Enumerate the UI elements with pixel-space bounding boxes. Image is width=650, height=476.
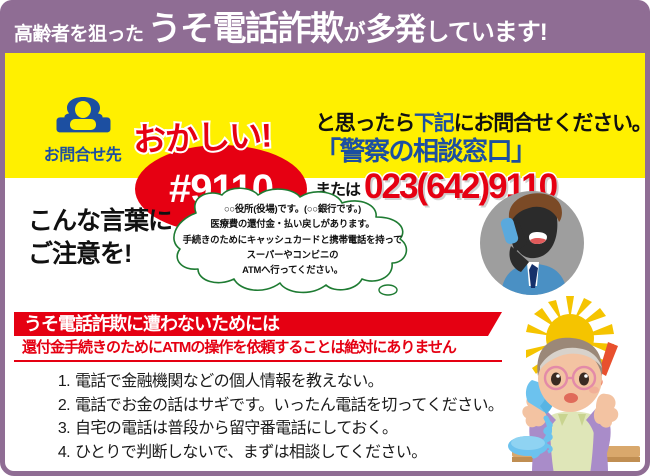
tip-number: 2.	[48, 394, 70, 418]
caution-heading: こんな言葉に ご注意を!	[28, 205, 172, 271]
prevention-banner-title: うそ電話詐欺に遭わないためには	[24, 312, 279, 336]
header-particle-text: が	[344, 15, 365, 47]
bubble-line-5: ATMへ行ってください。	[160, 262, 425, 277]
tip-number: 1.	[48, 370, 70, 394]
header-emphasis2-text: 多発	[366, 4, 425, 49]
caution-heading-line1: こんな言葉に	[28, 205, 172, 238]
prevention-subbanner-text: 還付金手続きのためにATMの操作を依頼することは絶対にありません	[22, 336, 456, 360]
bubble-line-2: 医療費の還付金・払い戻しがあります。	[160, 216, 425, 231]
ask-line: と思ったら下記にお問合せください。	[315, 113, 650, 135]
scam-awareness-poster: 高齢者を狙った うそ電話詐欺 が 多発 しています! お問合せ先 #9110 お…	[0, 0, 650, 476]
okashii-callout: おかしい!	[132, 109, 272, 162]
elderly-woman-on-phone-illustration	[498, 294, 648, 474]
ask-line-suffix: にお問合せください。	[454, 112, 650, 135]
contact-label: お問合せ先	[30, 141, 135, 165]
scam-script-bubble: ○○役所(役場)です。(○○銀行です。) 医療費の還付金・払い戻しがあります。 …	[160, 185, 425, 300]
ask-line-prefix: と思ったら	[315, 112, 414, 135]
police-desk-name: 「警察の相談窓口」	[315, 137, 650, 167]
bubble-line-4: スーパーやコンビニの	[160, 247, 425, 262]
bubble-text: ○○役所(役場)です。(○○銀行です。) 医療費の還付金・払い戻しがあります。 …	[160, 201, 425, 278]
header-title-group: 高齢者を狙った うそ電話詐欺 が 多発 しています!	[0, 4, 547, 49]
tip-text: 電話で金融機関などの個人情報を教えない。	[75, 370, 383, 394]
tip-number: 4.	[48, 441, 70, 465]
caution-heading-line2: ご注意を!	[28, 238, 172, 271]
list-item: 2. 電話でお金の話はサギです。いったん電話を切ってください。	[48, 394, 503, 418]
header-emphasis-text: うそ電話詐欺	[148, 12, 343, 46]
header-lead-text: 高齢者を狙った	[14, 19, 144, 46]
tip-text: ひとりで判断しないで、まずは相談してください。	[75, 441, 427, 465]
poster-header: 高齢者を狙った うそ電話詐欺 が 多発 しています!	[0, 0, 650, 53]
list-item: 4. ひとりで判断しないで、まずは相談してください。	[48, 441, 503, 465]
alert-band: お問合せ先 #9110 おかしい! と思ったら下記にお問合せください。 「警察の…	[5, 53, 645, 178]
ask-line-blue: 下記	[414, 112, 454, 135]
tip-text: 電話でお金の話はサギです。いったん電話を切ってください。	[75, 394, 503, 418]
contact-block: お問合せ先	[30, 95, 135, 165]
list-item: 1. 電話で金融機関などの個人情報を教えない。	[48, 370, 503, 394]
list-item: 3. 自宅の電話は普段から留守番電話にしておく。	[48, 417, 503, 441]
bubble-line-1: ○○役所(役場)です。(○○銀行です。)	[160, 201, 425, 216]
telephone-icon	[30, 95, 135, 140]
bubble-line-3: 手続きのためにキャッシュカードと携帯電話を持って	[160, 232, 425, 247]
tip-text: 自宅の電話は普段から留守番電話にしておく。	[75, 417, 397, 441]
tip-number: 3.	[48, 417, 70, 441]
scammer-on-phone-avatar	[477, 188, 587, 298]
prevention-tips-list: 1. 電話で金融機関などの個人情報を教えない。 2. 電話でお金の話はサギです。…	[48, 370, 503, 465]
header-tail-text: しています!	[426, 12, 547, 47]
